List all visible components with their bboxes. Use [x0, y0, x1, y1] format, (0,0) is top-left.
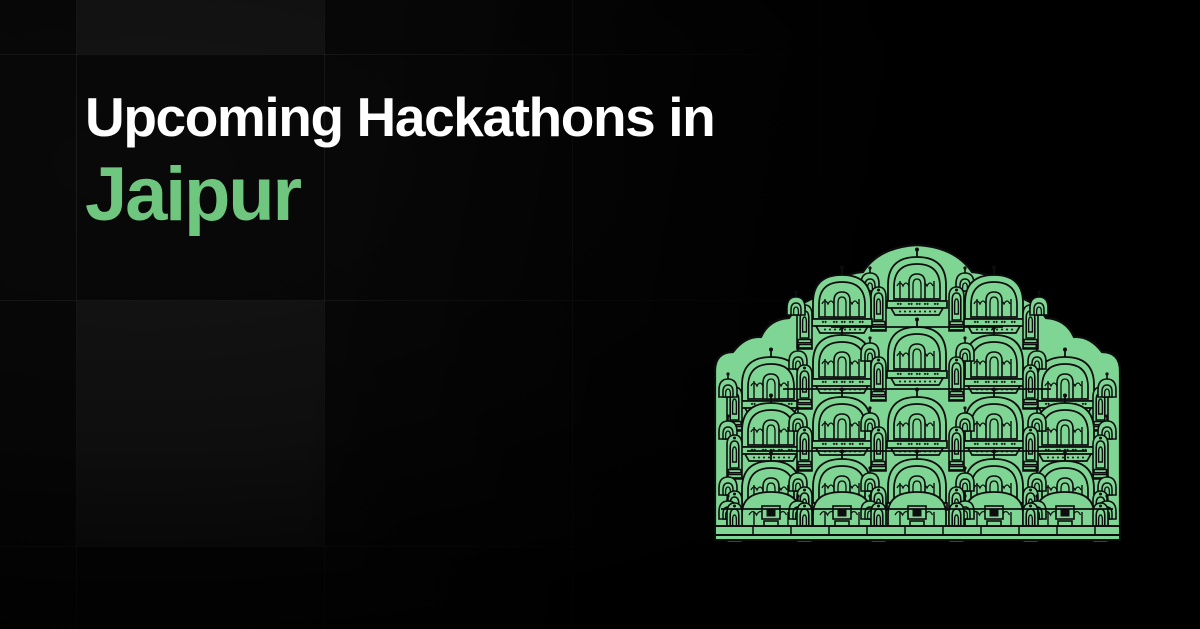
headline-city-name: Jaipur: [85, 152, 714, 238]
headline-primary-text: Upcoming Hackathons in: [85, 86, 714, 148]
grid-highlight-cell-middle: [77, 301, 324, 546]
page-title: Upcoming Hackathons in Jaipur: [85, 86, 714, 238]
hawa-mahal-icon: [711, 209, 1124, 542]
hackathon-city-banner: Upcoming Hackathons in Jaipur: [0, 0, 1200, 629]
grid-highlight-cell-top: [77, 0, 324, 54]
hawa-mahal-illustration: [711, 209, 1124, 542]
